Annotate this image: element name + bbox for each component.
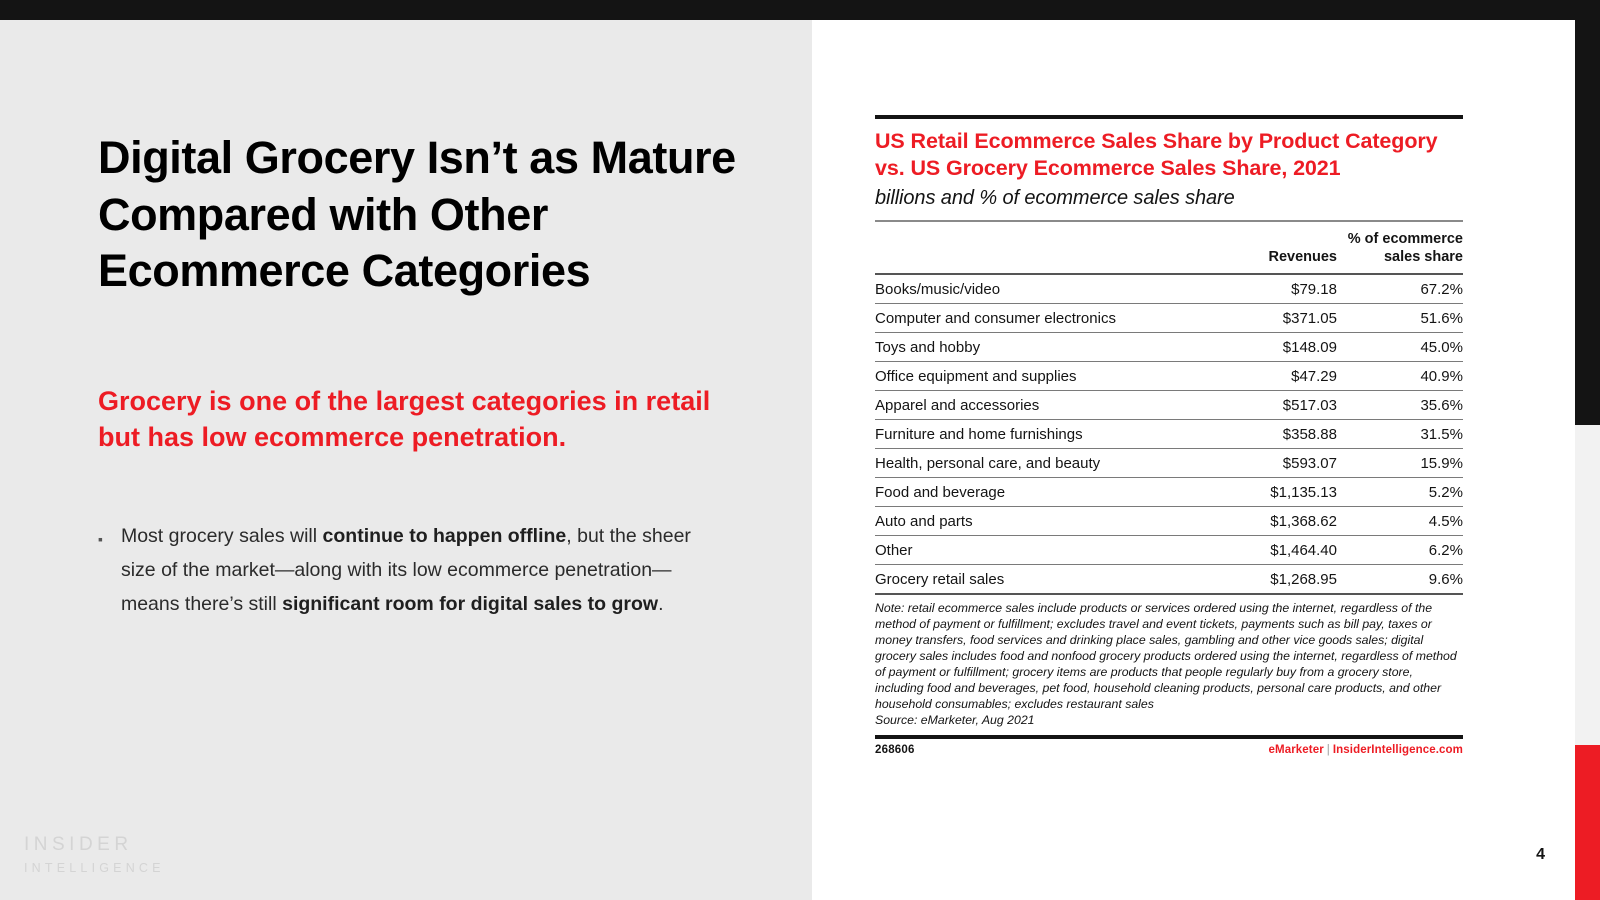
right-edge-gray-block — [1575, 425, 1600, 745]
cell-category: Health, personal care, and beauty — [875, 448, 1205, 477]
cell-share: 5.2% — [1337, 477, 1463, 506]
table-row: Books/music/video$79.1867.2% — [875, 274, 1463, 304]
cell-share: 35.6% — [1337, 390, 1463, 419]
cell-revenues: $1,135.13 — [1205, 477, 1337, 506]
cell-revenues: $1,464.40 — [1205, 535, 1337, 564]
table-row: Toys and hobby$148.0945.0% — [875, 332, 1463, 361]
table-row: Apparel and accessories$517.0335.6% — [875, 390, 1463, 419]
table-row: Other$1,464.406.2% — [875, 535, 1463, 564]
right-edge-black-block — [1575, 20, 1600, 425]
insider-intelligence-logo: INSIDER INTELLIGENCE — [24, 831, 165, 878]
chart-subtitle: billions and % of ecommerce sales share — [875, 187, 1463, 210]
cell-revenues: $1,268.95 — [1205, 564, 1337, 593]
brand-separator: | — [1324, 744, 1333, 756]
chart-title: US Retail Ecommerce Sales Share by Produ… — [875, 128, 1463, 182]
cell-category: Toys and hobby — [875, 332, 1205, 361]
cell-share: 40.9% — [1337, 361, 1463, 390]
cell-revenues: $148.09 — [1205, 332, 1337, 361]
cell-category: Furniture and home furnishings — [875, 419, 1205, 448]
table-row: Computer and consumer electronics$371.05… — [875, 303, 1463, 332]
bullet-segment-1: continue to happen offline — [323, 525, 567, 547]
footer-brand: eMarketer|InsiderIntelligence.com — [1269, 744, 1463, 756]
top-black-band — [0, 0, 1600, 20]
chart-id: 268606 — [875, 744, 915, 756]
table-row: Furniture and home furnishings$358.8831.… — [875, 419, 1463, 448]
cell-revenues: $358.88 — [1205, 419, 1337, 448]
bullet-segment-3: significant room for digital sales to gr… — [282, 593, 658, 615]
cell-revenues: $1,368.62 — [1205, 506, 1337, 535]
table-row: Office equipment and supplies$47.2940.9% — [875, 361, 1463, 390]
cell-revenues: $593.07 — [1205, 448, 1337, 477]
table-row: Grocery retail sales$1,268.959.6% — [875, 564, 1463, 593]
cell-share: 6.2% — [1337, 535, 1463, 564]
bullet-list: ▪ Most grocery sales will continue to ha… — [98, 520, 718, 622]
page-subtitle: Grocery is one of the largest categories… — [98, 384, 738, 455]
column-header-share-line1: % of ecommerce — [1348, 231, 1463, 247]
card-top-rule — [875, 115, 1463, 119]
table-bottom-rule — [875, 593, 1463, 595]
cell-share: 15.9% — [1337, 448, 1463, 477]
list-item: ▪ Most grocery sales will continue to ha… — [98, 520, 718, 622]
chart-source: Source: eMarketer, Aug 2021 — [875, 713, 1463, 729]
table-row: Health, personal care, and beauty$593.07… — [875, 448, 1463, 477]
column-header-revenues: Revenues — [1205, 222, 1337, 274]
logo-line-intelligence: INTELLIGENCE — [24, 859, 165, 878]
cell-revenues: $517.03 — [1205, 390, 1337, 419]
bullet-segment-4: . — [658, 593, 663, 615]
cell-share: 45.0% — [1337, 332, 1463, 361]
cell-share: 67.2% — [1337, 274, 1463, 304]
cell-share: 9.6% — [1337, 564, 1463, 593]
cell-revenues: $79.18 — [1205, 274, 1337, 304]
chart-note: Note: retail ecommerce sales include pro… — [875, 601, 1463, 713]
cell-category: Other — [875, 535, 1205, 564]
table-header-row: Revenues % of ecommerce sales share — [875, 222, 1463, 274]
card-bottom-rule — [875, 735, 1463, 739]
logo-line-insider: INSIDER — [24, 831, 165, 860]
data-table: Revenues % of ecommerce sales share Book… — [875, 222, 1463, 593]
slide-canvas: Digital Grocery Isn’t as Mature Compared… — [0, 0, 1600, 900]
brand-emarketer: eMarketer — [1269, 744, 1324, 756]
page-title: Digital Grocery Isn’t as Mature Compared… — [98, 130, 738, 300]
bullet-text: Most grocery sales will continue to happ… — [121, 520, 718, 622]
table-row: Auto and parts$1,368.624.5% — [875, 506, 1463, 535]
right-edge-red-block — [1575, 745, 1600, 900]
cell-share: 51.6% — [1337, 303, 1463, 332]
bullet-square-icon: ▪ — [98, 520, 103, 546]
cell-category: Auto and parts — [875, 506, 1205, 535]
left-content-panel: Digital Grocery Isn’t as Mature Compared… — [0, 20, 812, 900]
chart-card: US Retail Ecommerce Sales Share by Produ… — [875, 115, 1463, 756]
cell-category: Food and beverage — [875, 477, 1205, 506]
cell-revenues: $47.29 — [1205, 361, 1337, 390]
page-number: 4 — [1536, 846, 1545, 864]
brand-insiderintelligence[interactable]: InsiderIntelligence.com — [1333, 744, 1463, 756]
column-header-share-line2: sales share — [1384, 249, 1463, 265]
cell-share: 4.5% — [1337, 506, 1463, 535]
card-footer: 268606 eMarketer|InsiderIntelligence.com — [875, 744, 1463, 756]
column-header-share: % of ecommerce sales share — [1337, 222, 1463, 274]
cell-category: Books/music/video — [875, 274, 1205, 304]
cell-share: 31.5% — [1337, 419, 1463, 448]
cell-category: Computer and consumer electronics — [875, 303, 1205, 332]
cell-category: Apparel and accessories — [875, 390, 1205, 419]
cell-category: Office equipment and supplies — [875, 361, 1205, 390]
column-header-category — [875, 222, 1205, 274]
cell-revenues: $371.05 — [1205, 303, 1337, 332]
bullet-segment-0: Most grocery sales will — [121, 525, 323, 547]
cell-category: Grocery retail sales — [875, 564, 1205, 593]
table-row: Food and beverage$1,135.135.2% — [875, 477, 1463, 506]
